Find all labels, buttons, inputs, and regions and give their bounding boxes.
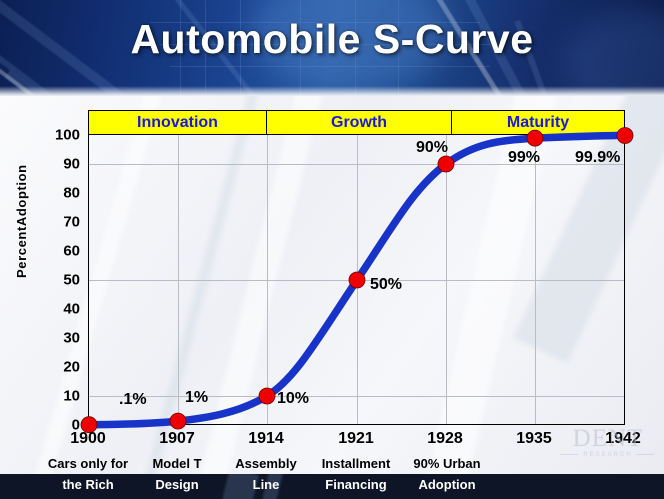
- title-banner: Automobile S-Curve: [0, 0, 664, 96]
- page-title: Automobile S-Curve: [0, 16, 664, 63]
- x-tick-1921: 1921: [338, 430, 374, 448]
- x-tick-1900: 1900: [70, 430, 106, 448]
- y-tick-50: 50: [63, 272, 80, 289]
- y-axis-tick-labels: 100 90 80 70 60 50 40 30 20 10 0: [28, 135, 84, 425]
- y-tick-20: 20: [63, 359, 80, 376]
- y-tick-80: 80: [63, 185, 80, 202]
- point-label-1914: 10%: [277, 390, 309, 408]
- caption-1907-line2: Design: [155, 477, 198, 492]
- y-tick-60: 60: [63, 243, 80, 260]
- x-tick-1907: 1907: [159, 430, 195, 448]
- caption-1900-line1: Cars only for: [48, 456, 128, 471]
- caption-1914-line1: Assembly: [235, 456, 296, 471]
- point-label-1921: 50%: [370, 276, 402, 294]
- s-curve-series: [89, 135, 626, 425]
- banner-fade: [0, 86, 664, 96]
- y-tick-30: 30: [63, 330, 80, 347]
- caption-row-top: Cars only for Model T Assembly Installme…: [0, 456, 664, 474]
- caption-1921-line2: Financing: [325, 477, 386, 492]
- caption-1907-line1: Model T: [152, 456, 201, 471]
- y-tick-10: 10: [63, 388, 80, 405]
- x-tick-1928: 1928: [427, 430, 463, 448]
- y-tick-90: 90: [63, 156, 80, 173]
- caption-row-bottom: the Rich Design Line Financing Adoption: [0, 474, 664, 499]
- slide-root: Automobile S-Curve Innovation Growth Mat…: [0, 0, 664, 499]
- phase-innovation[interactable]: Innovation: [89, 111, 266, 134]
- plot-area: [88, 135, 625, 425]
- y-tick-100: 100: [55, 127, 80, 144]
- data-point-1907[interactable]: [170, 413, 186, 429]
- caption-1921-line1: Installment: [322, 456, 391, 471]
- point-label-1935: 99%: [508, 149, 540, 167]
- x-tick-1914: 1914: [248, 430, 284, 448]
- point-label-1928: 90%: [416, 139, 448, 157]
- point-label-1900: .1%: [119, 391, 147, 409]
- point-label-1942: 99.9%: [575, 149, 620, 167]
- phase-label: Growth: [331, 114, 387, 132]
- caption-1928-line1: 90% Urban: [413, 456, 480, 471]
- data-point-1928[interactable]: [438, 156, 454, 172]
- data-point-1935[interactable]: [527, 130, 543, 146]
- y-axis-title: PercentAdoption: [14, 164, 29, 278]
- data-point-1921[interactable]: [349, 272, 365, 288]
- data-point-1942[interactable]: [617, 128, 633, 144]
- x-tick-1935: 1935: [516, 430, 552, 448]
- y-tick-40: 40: [63, 301, 80, 318]
- phase-header-bar: Innovation Growth Maturity: [88, 110, 625, 135]
- phase-label: Innovation: [137, 114, 218, 132]
- x-axis-tick-labels: 1900 1907 1914 1921 1928 1935 1942: [0, 430, 664, 452]
- caption-1914-line2: Line: [253, 477, 280, 492]
- data-point-1914[interactable]: [259, 388, 275, 404]
- point-label-1907: 1%: [185, 389, 208, 407]
- y-tick-70: 70: [63, 214, 80, 231]
- x-tick-1942: 1942: [605, 430, 641, 448]
- caption-1900-line2: the Rich: [62, 477, 113, 492]
- phase-growth[interactable]: Growth: [266, 111, 451, 134]
- phase-label: Maturity: [507, 114, 569, 132]
- caption-1928-line2: Adoption: [418, 477, 475, 492]
- chart-stage: Innovation Growth Maturity 100 90 80 70 …: [0, 96, 664, 499]
